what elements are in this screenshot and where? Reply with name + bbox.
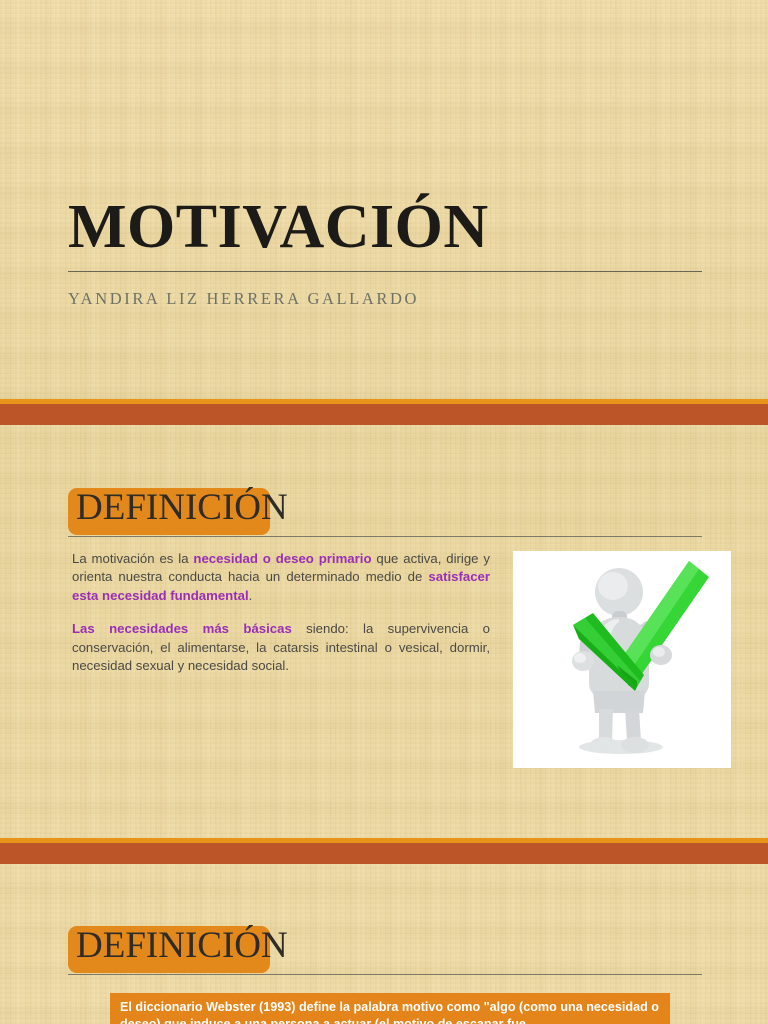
definition-illustration xyxy=(513,551,731,768)
para2-highlight-1: Las necesidades más básicas xyxy=(72,621,292,636)
author-subtitle: YANDIRA LIZ HERRERA GALLARDO xyxy=(68,289,702,309)
definition-body-text: La motivación es la necesidad o deseo pr… xyxy=(72,550,490,675)
page-title: MOTIVACIÓN xyxy=(68,196,702,259)
para1-part1: La motivación es la xyxy=(72,551,193,566)
callout-text: El diccionario Webster (1993) define la … xyxy=(110,993,670,1024)
para1-highlight-1: necesidad o deseo primario xyxy=(193,551,371,566)
section-heading-label: DEFINICIÓN xyxy=(76,922,288,970)
divider-stripe-dark xyxy=(0,843,768,864)
title-block: MOTIVACIÓN YANDIRA LIZ HERRERA GALLARDO xyxy=(68,196,702,309)
section-divider-band-top xyxy=(0,399,768,425)
figure-with-green-check-icon xyxy=(513,551,731,768)
section-heading-definicion-2: DEFINICIÓN xyxy=(68,920,702,978)
heading-divider-rule xyxy=(68,974,702,975)
definition-paragraph-2: Las necesidades más básicas siendo: la s… xyxy=(72,620,490,675)
definition-paragraph-1: La motivación es la necesidad o deseo pr… xyxy=(72,550,490,605)
para1-part3: . xyxy=(249,588,253,603)
section-divider-band-bottom xyxy=(0,838,768,864)
heading-divider-rule xyxy=(68,536,702,537)
section-heading-label: DEFINICIÓN xyxy=(76,484,288,532)
title-divider-rule xyxy=(68,271,702,272)
divider-stripe-dark xyxy=(0,404,768,425)
slide-page: MOTIVACIÓN YANDIRA LIZ HERRERA GALLARDO … xyxy=(0,0,768,1024)
webster-definition-callout: El diccionario Webster (1993) define la … xyxy=(110,993,670,1024)
section-heading-definicion-1: DEFINICIÓN xyxy=(68,482,702,540)
